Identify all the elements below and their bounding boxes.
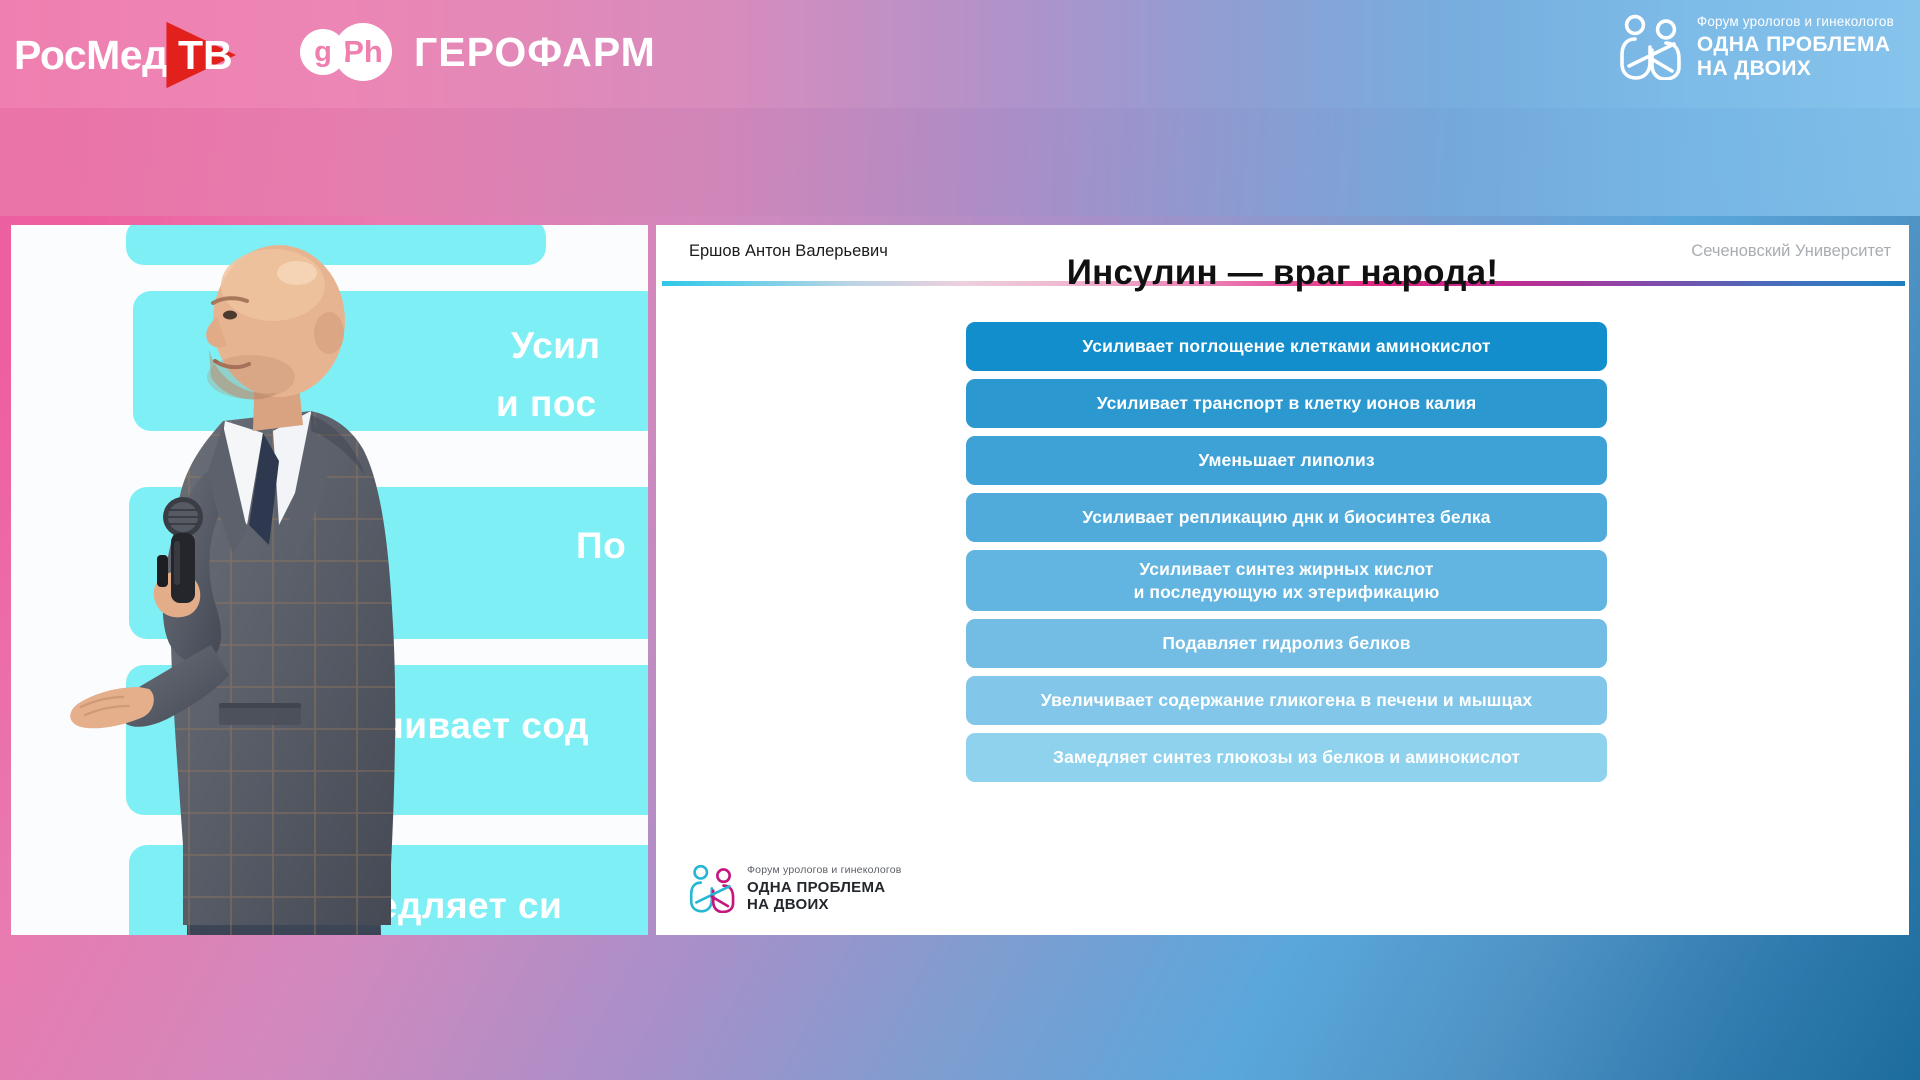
banner-fade-band (0, 108, 1920, 216)
effect-bar-label: Замедляет синтез глюкозы из белков и ами… (1053, 746, 1520, 768)
forum-event-logo-slide: Форум урологов и гинекологов ОДНА ПРОБЛЕ… (689, 864, 902, 914)
two-people-infinity-icon (1619, 14, 1683, 80)
broadcast-stage: РосМед ТВ g Ph ГЕРОФАРМ Форум урологов и… (0, 0, 1920, 1080)
effect-bar: Замедляет синтез глюкозы из белков и ами… (966, 733, 1607, 782)
rosmed-tv-logo: РосМед ТВ (14, 14, 274, 94)
forum-title-line2-slide: НА ДВОИХ (747, 896, 902, 913)
forum-title-line1-top: ОДНА ПРОБЛЕМА (1697, 33, 1894, 57)
forum-tagline-slide: Форум урологов и гинекологов (747, 864, 902, 876)
rosmed-wordmark: РосМед (14, 32, 168, 79)
effect-bar-label: Усиливает синтез жирных кислоти последую… (1134, 558, 1440, 603)
presentation-slide[interactable]: Ершов Антон Валерьевич Сеченовский Униве… (656, 225, 1909, 935)
geropharm-logo: g Ph ГЕРОФАРМ (300, 16, 656, 88)
forum-event-logo-top: Форум урологов и гинекологов ОДНА ПРОБЛЕ… (1619, 14, 1894, 81)
effect-bar: Увеличивает содержание гликогена в печен… (966, 676, 1607, 725)
forum-title-line2-top: НА ДВОИХ (1697, 57, 1894, 81)
speaker-camera-feed[interactable]: Усил и пос По ичивает сод медляет си (11, 225, 648, 935)
effect-bar: Усиливает транспорт в клетку ионов калия (966, 379, 1607, 428)
effect-bar: Подавляет гидролиз белков (966, 619, 1607, 668)
geropharm-wordmark: ГЕРОФАРМ (414, 29, 656, 76)
slide-title: Инсулин — враг народа! (656, 253, 1909, 293)
effect-bar-label: Уменьшает липолиз (1198, 449, 1374, 471)
two-people-infinity-icon (689, 864, 736, 913)
effect-bar: Усиливает репликацию днк и биосинтез бел… (966, 493, 1607, 542)
effect-bar-label: Увеличивает содержание гликогена в печен… (1041, 689, 1532, 711)
gph-mark-g: g (300, 29, 346, 75)
effect-bar-label: Усиливает репликацию днк и биосинтез бел… (1082, 506, 1490, 528)
effect-bar-label: Усиливает поглощение клетками аминокисло… (1082, 335, 1490, 357)
effect-bar-label: Подавляет гидролиз белков (1162, 632, 1410, 654)
effect-bar: Уменьшает липолиз (966, 436, 1607, 485)
speaker-figure (11, 225, 648, 935)
insulin-effects-list: Усиливает поглощение клетками аминокисло… (966, 322, 1607, 790)
forum-tagline-top: Форум урологов и гинекологов (1697, 14, 1894, 29)
effect-bar: Усиливает поглощение клетками аминокисло… (966, 322, 1607, 371)
effect-bar: Усиливает синтез жирных кислоти последую… (966, 550, 1607, 611)
rosmed-tv-badge: ТВ (178, 32, 233, 79)
effect-bar-label: Усиливает транспорт в клетку ионов калия (1097, 392, 1477, 414)
forum-title-line1-slide: ОДНА ПРОБЛЕМА (747, 879, 902, 896)
